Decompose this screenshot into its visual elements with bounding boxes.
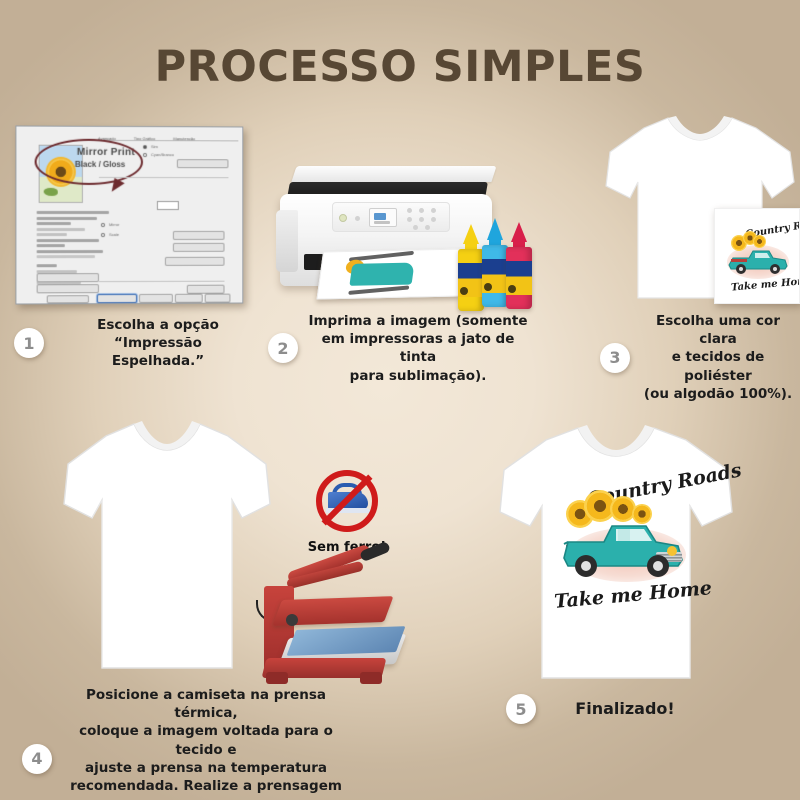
printer-button-5[interactable] <box>407 217 412 222</box>
dialog-preferences-button-3[interactable] <box>47 295 89 303</box>
page-title: PROCESSO SIMPLES <box>0 42 800 92</box>
checkbox-option-a[interactable] <box>101 223 105 227</box>
printer-button-3[interactable] <box>419 208 424 213</box>
dialog-restore-defaults-button[interactable] <box>165 257 225 266</box>
radio-option-cyan[interactable] <box>143 153 147 157</box>
checkbox-label-a: Mirror <box>109 222 119 227</box>
step-text-4: Posicione a camiseta na prensa térmica, … <box>60 686 352 800</box>
printer-button-9[interactable] <box>425 225 430 230</box>
infographic-page: PROCESSO SIMPLES Avançado Tipo Gráfico M… <box>0 0 800 800</box>
blank-tshirt-step4 <box>62 418 272 674</box>
checkbox-option-b[interactable] <box>101 233 105 237</box>
yellow-ink-bottle <box>458 224 484 310</box>
step-caption-5: 5 Finalizado! <box>506 694 706 724</box>
printer-lcd-screen <box>369 208 397 227</box>
step-badge-3: 3 <box>600 343 630 373</box>
step-badge-1: 1 <box>14 328 44 358</box>
checkbox-label-b: Scale <box>109 232 119 237</box>
radio-label-sim: Sim <box>151 144 158 149</box>
printed-transfer-sheet <box>316 249 465 300</box>
printer-ink-tank <box>276 210 298 272</box>
callout-ellipse <box>35 139 143 185</box>
step-text-5: Finalizado! <box>544 698 706 720</box>
dialog-ok-button[interactable] <box>97 294 137 303</box>
step-caption-4: 4 Posicione a camiseta na prensa térmica… <box>22 686 352 800</box>
dialog-browse-button[interactable] <box>177 159 229 168</box>
cyan-ink-bottle <box>482 218 508 310</box>
dialog-preferences-button-1[interactable] <box>37 273 99 282</box>
press-handle-grip <box>359 541 391 562</box>
printer-button-6[interactable] <box>419 217 424 222</box>
magenta-ink-bottle <box>506 222 532 310</box>
dialog-about-button[interactable] <box>187 285 225 294</box>
press-foot-left <box>266 672 288 684</box>
printer-button-7[interactable] <box>431 217 436 222</box>
radio-option-sim[interactable] <box>143 145 147 149</box>
dialog-settings-button-1[interactable] <box>173 231 225 240</box>
dialog-help-button[interactable] <box>175 294 203 303</box>
dialog-preferences-button-2[interactable] <box>37 284 99 293</box>
callout-arrow <box>112 178 126 194</box>
step-badge-5: 5 <box>506 694 536 724</box>
step-badge-4: 4 <box>22 744 52 774</box>
step-caption-1: 1 Escolha a opção “Impressão Espelhada.” <box>14 316 264 371</box>
dialog-copies-combo[interactable] <box>157 201 179 210</box>
design-bottom-text: Take me Home <box>553 577 712 613</box>
dialog-divider-2 <box>99 281 225 282</box>
printer-paper-support <box>291 166 496 182</box>
radio-label-cyan: Cyan/Branco <box>151 152 174 157</box>
printer-button-1[interactable] <box>355 216 360 221</box>
step-text-2: Imprima a imagem (somente em impressoras… <box>306 312 530 385</box>
step-badge-2: 2 <box>268 333 298 363</box>
step-caption-2: 2 Imprima a imagem (somente em impressor… <box>268 312 530 385</box>
printer-power-button[interactable] <box>339 214 347 222</box>
step-text-1: Escolha a opção “Impressão Espelhada.” <box>52 316 264 371</box>
printer-dialog-window: Avançado Tipo Gráfico Manutenção Mirror … <box>15 125 243 304</box>
printer-button-2[interactable] <box>407 208 412 213</box>
step-text-3: Escolha uma cor clara e tecidos de polié… <box>638 312 798 403</box>
printer-driver-dialog-screenshot: Avançado Tipo Gráfico Manutenção Mirror … <box>16 126 244 304</box>
press-pressure-knob[interactable] <box>286 614 298 626</box>
press-foot-right <box>360 672 382 684</box>
step-caption-3: 3 Escolha uma cor clara e tecidos de pol… <box>600 312 798 403</box>
heat-press-machine <box>256 540 416 690</box>
transfer-sheet-step3: Country Roads Take me Home <box>714 208 800 304</box>
dialog-apply-button[interactable] <box>205 294 231 303</box>
tshirt-print-design: Country Roads Take me Home <box>548 472 700 622</box>
printer-button-8[interactable] <box>413 225 418 230</box>
printer-control-panel[interactable] <box>332 202 450 232</box>
vintage-truck-graphic <box>560 518 686 582</box>
press-platen-pad <box>286 626 405 656</box>
printer-button-4[interactable] <box>431 208 436 213</box>
inkjet-printer-illustration <box>276 158 526 310</box>
dialog-settings-button-2[interactable] <box>173 243 225 252</box>
dialog-cancel-button[interactable] <box>139 294 173 303</box>
